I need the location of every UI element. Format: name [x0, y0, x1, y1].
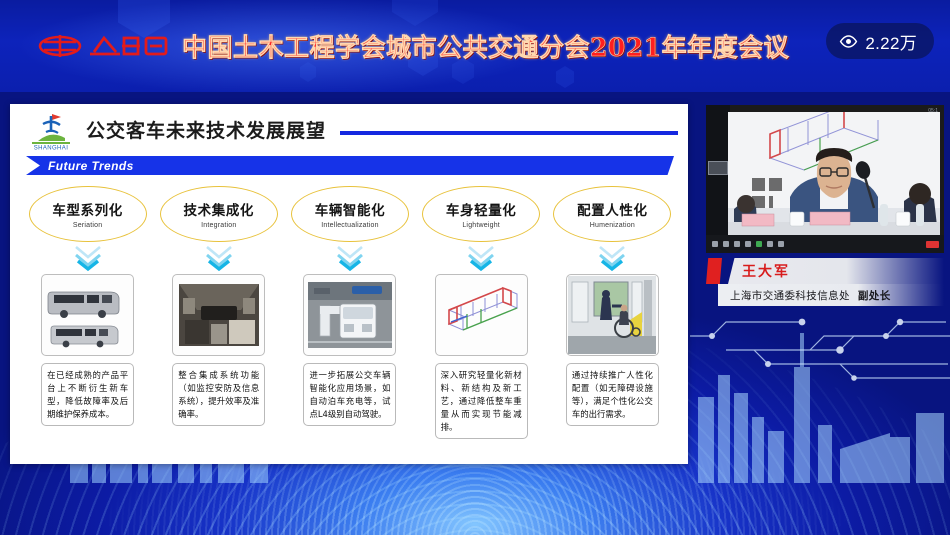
mic-icon[interactable]	[712, 241, 718, 247]
trend-title-cn: 车辆智能化	[315, 199, 386, 219]
shanghai-bus-logo: SHANGHAI	[26, 110, 76, 154]
broadcast-stage: 中国土木工程学会城市公共交通分会2021年年度会议 2.22万	[0, 0, 950, 535]
speaker-role: 副处长	[858, 288, 891, 303]
nameplate-accent-bar	[706, 258, 722, 284]
speaker-nameplate: 王大军 上海市交通委科技信息处 副处长	[706, 258, 944, 306]
section-banner: Future Trends	[26, 156, 674, 175]
trend-columns: 车型系列化 Seriation	[22, 186, 678, 439]
trend-bubble: 车辆智能化 Intellectualization	[291, 186, 409, 242]
presentation-slide[interactable]: SHANGHAI 公交客车未来技术发展展望 Future Trends 车型系列…	[10, 104, 688, 464]
bus-autonomous-charging-image	[303, 274, 396, 356]
header-bar: 中国土木工程学会城市公共交通分会2021年年度会议 2.22万	[0, 0, 950, 92]
chat-icon[interactable]	[745, 241, 751, 247]
video-sidebar	[706, 105, 730, 253]
trend-description: 整合集成系统功能（如监控安防及信息系统），提升效率及准确率。	[172, 363, 265, 426]
chevron-down-icon	[330, 244, 370, 274]
speaker-affiliation: 上海市交通委科技信息处	[730, 288, 850, 303]
trend-title-en: Intellectualization	[321, 222, 379, 229]
wheelchair-accessibility-image	[566, 274, 659, 356]
trend-column: 技术集成化 Integration	[153, 186, 284, 439]
circuit-decoration	[690, 300, 950, 430]
video-toolbar[interactable]	[706, 235, 944, 253]
slide-header: SHANGHAI 公交客车未来技术发展展望	[10, 104, 688, 156]
conference-title: 中国土木工程学会城市公共交通分会2021年年度会议	[182, 28, 789, 64]
trend-title-cn: 车身轻量化	[446, 199, 517, 219]
record-icon[interactable]	[767, 241, 773, 247]
participants-icon[interactable]	[734, 241, 740, 247]
nameplate-role-row: 上海市交通委科技信息处 副处长	[718, 284, 944, 306]
slide-title: 公交客车未来技术发展展望	[86, 116, 326, 143]
trend-description: 通过持续推广人性化配置（如无障碍设施等），满足个性化公交车的出行需求。	[566, 363, 659, 426]
bus-interior-ceiling-image	[172, 274, 265, 356]
trend-description: 在已经成熟的产品平台上不断衍生新车型，降低故障率及后期维护保养成本。	[41, 363, 134, 426]
trend-title-cn: 技术集成化	[184, 199, 255, 219]
leave-meeting-button[interactable]	[926, 241, 939, 248]
view-count-badge: 2.22万	[826, 23, 934, 59]
eye-icon	[839, 35, 858, 48]
section-banner-label: Future Trends	[48, 159, 134, 173]
video-timestamp: 05:1	[928, 108, 938, 114]
bus-frame-cad-image	[435, 274, 528, 356]
video-picture	[728, 112, 940, 235]
trend-bubble: 车身轻量化 Lightweight	[422, 186, 540, 242]
chevron-down-icon	[68, 244, 108, 274]
chevron-down-icon	[461, 244, 501, 274]
trend-description: 进一步拓展公交车辆智能化应用场景，如自动泊车充电等，试点L4级别自动驾驶。	[303, 363, 396, 426]
view-count-value: 2.22万	[865, 29, 917, 54]
chevron-down-icon	[199, 244, 239, 274]
chevron-down-icon	[592, 244, 632, 274]
trend-column: 配置人性化 Humenization	[547, 186, 678, 439]
speaker-name: 王大军	[742, 261, 790, 281]
title-underline	[340, 131, 678, 135]
trend-title-en: Integration	[201, 222, 236, 229]
share-screen-icon[interactable]	[756, 241, 762, 247]
trend-bubble: 车型系列化 Seriation	[29, 186, 147, 242]
trend-title-en: Humenization	[590, 222, 635, 229]
svg-text:SHANGHAI: SHANGHAI	[34, 146, 69, 152]
china-civil-engineering-society-logo	[38, 30, 176, 62]
video-thumbnail	[708, 161, 728, 175]
bus-exterior-renders-image	[41, 274, 134, 356]
trend-column: 车辆智能化 Intellectualization	[284, 186, 415, 439]
trend-title-cn: 配置人性化	[577, 199, 648, 219]
trend-column: 车型系列化 Seriation	[22, 186, 153, 439]
video-frame: 05:1	[706, 105, 944, 253]
speaker-video-feed[interactable]: 05:1	[706, 105, 944, 253]
nameplate-name-row: 王大军	[728, 258, 944, 284]
reactions-icon[interactable]	[778, 241, 784, 247]
trend-title-en: Seriation	[73, 222, 102, 229]
trend-bubble: 技术集成化 Integration	[160, 186, 278, 242]
trend-description: 深入研究轻量化新材料、新结构及新工艺，通过降低整车重量从而实现节能减排。	[435, 363, 528, 439]
trend-column: 车身轻量化 Lightweight	[416, 186, 547, 439]
trend-title-en: Lightweight	[462, 222, 500, 229]
trend-title-cn: 车型系列化	[52, 199, 123, 219]
trend-bubble: 配置人性化 Humenization	[553, 186, 671, 242]
camera-icon[interactable]	[723, 241, 729, 247]
